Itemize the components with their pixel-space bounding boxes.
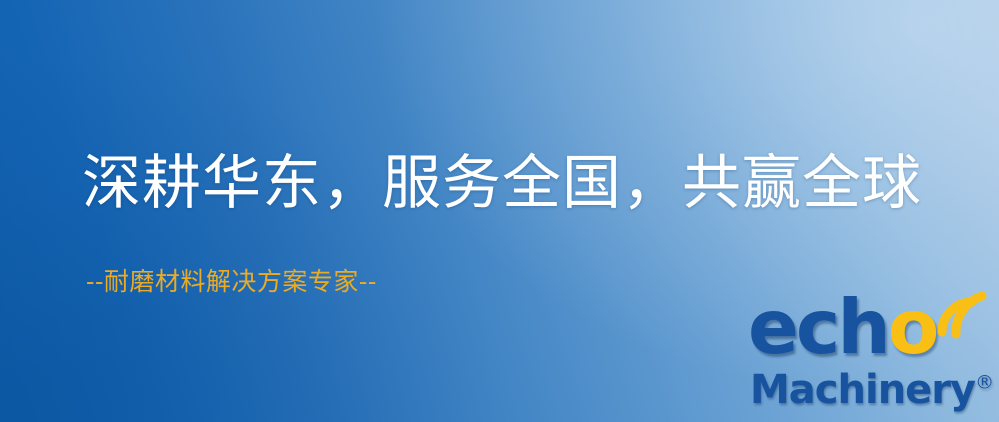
- logo-mark: echo: [748, 296, 996, 368]
- banner-headline: 深耕华东，服务全国，共赢全球: [82, 152, 922, 214]
- logo-wordmark-text: Machinery: [750, 367, 975, 413]
- logo-brand-o: o: [888, 283, 937, 371]
- promo-banner: 深耕华东，服务全国，共赢全球 --耐磨材料解决方案专家-- echo Machi…: [0, 0, 999, 422]
- logo-brand-prefix: ech: [748, 283, 888, 371]
- banner-subtitle: --耐磨材料解决方案专家--: [86, 268, 377, 296]
- echo-machinery-logo: echo Machinery®: [748, 296, 996, 418]
- signal-waves-icon: [930, 282, 992, 340]
- logo-wordmark: Machinery®: [750, 370, 994, 410]
- logo-brand-text: echo: [748, 290, 936, 365]
- registered-trademark-icon: ®: [975, 372, 994, 394]
